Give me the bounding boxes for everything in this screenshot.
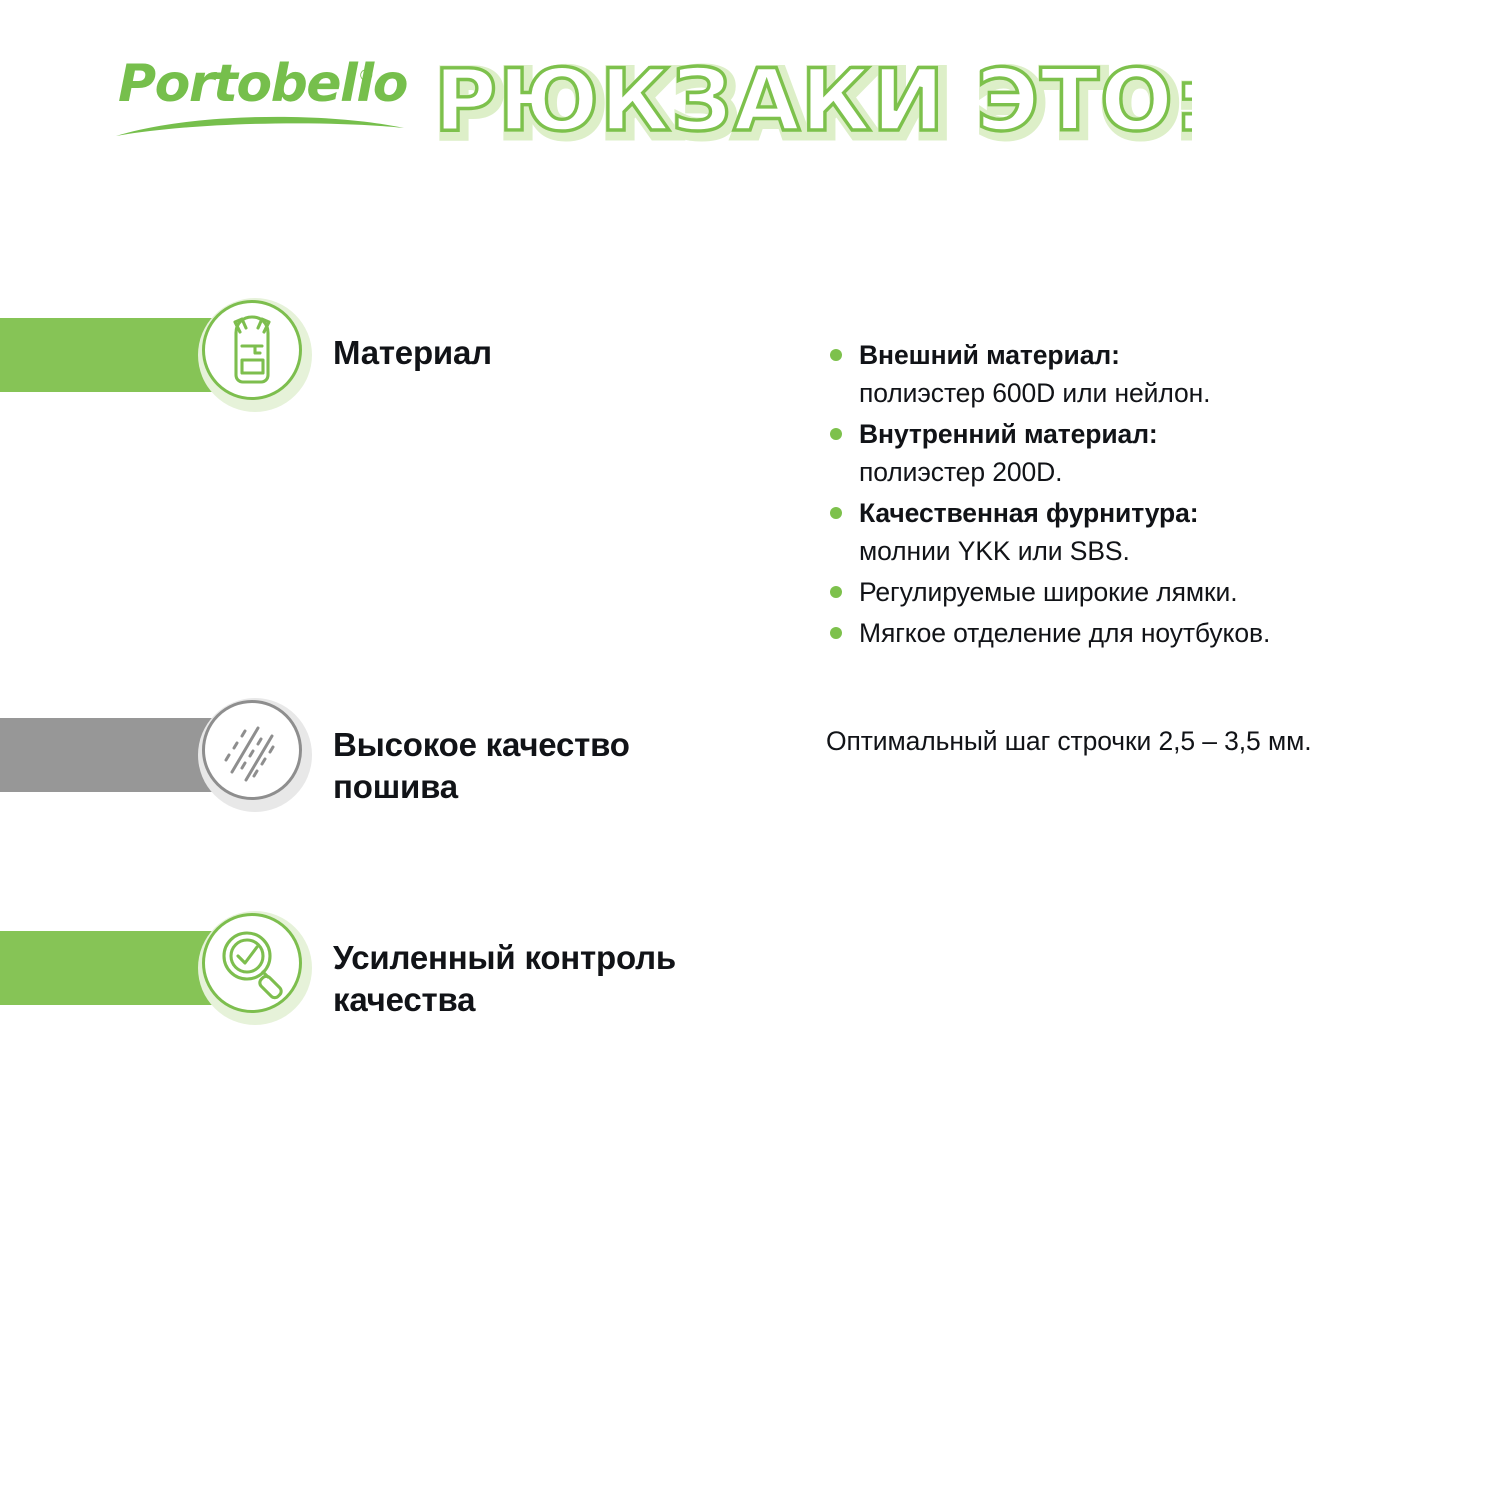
registered-mark-icon: ® xyxy=(360,66,373,86)
brand-logo: Portobello ® xyxy=(118,58,418,148)
list-item: Мягкое отделение для ноутбуков. xyxy=(826,614,1446,652)
bullet-dot-icon xyxy=(830,428,842,440)
list-item: Регулируемые широкие лямки. xyxy=(826,573,1446,611)
bullet-heading: Внутренний материал: xyxy=(859,415,1446,453)
bullet-heading: Качественная фурнитура: xyxy=(859,494,1446,532)
bullet-detail: Регулируемые широкие лямки. xyxy=(859,573,1446,611)
infographic-page: Portobello ® РЮКЗАКИ ЭТО: РЮКЗАКИ ЭТО: xyxy=(0,0,1500,1500)
page-title-outline: РЮКЗАКИ ЭТО: xyxy=(434,51,1192,151)
badge-sewing xyxy=(198,698,312,812)
bullet-dot-icon xyxy=(830,349,842,361)
bullet-dot-icon xyxy=(830,586,842,598)
bullet-dot-icon xyxy=(830,627,842,639)
section-title-material: Материал xyxy=(333,332,492,374)
badge-material xyxy=(198,298,312,412)
list-item: Внешний материал: полиэстер 600D или ней… xyxy=(826,336,1446,412)
section-title-control: Усиленный контроль качества xyxy=(333,937,676,1021)
stitching-note: Оптимальный шаг строчки 2,5 – 3,5 мм. xyxy=(826,722,1466,760)
page-title: РЮКЗАКИ ЭТО: РЮКЗАКИ ЭТО: xyxy=(432,48,1192,158)
page-title-glyphs: РЮКЗАКИ ЭТО: РЮКЗАКИ ЭТО: xyxy=(432,48,1192,158)
bullet-detail: молнии YKK или SBS. xyxy=(859,532,1446,570)
magnifier-check-icon xyxy=(202,913,302,1013)
backpack-icon xyxy=(202,300,302,400)
stitching-icon xyxy=(202,700,302,800)
bullet-dot-icon xyxy=(830,507,842,519)
material-bullet-list: Внешний материал: полиэстер 600D или ней… xyxy=(826,336,1446,655)
brand-swoosh-icon xyxy=(114,114,406,140)
bullet-detail: Мягкое отделение для ноутбуков. xyxy=(859,614,1446,652)
list-item: Внутренний материал: полиэстер 200D. xyxy=(826,415,1446,491)
badge-control xyxy=(198,911,312,1025)
list-item: Качественная фурнитура: молнии YKK или S… xyxy=(826,494,1446,570)
section-title-sewing: Высокое качество пошива xyxy=(333,724,630,808)
bullet-detail: полиэстер 600D или нейлон. xyxy=(859,374,1446,412)
bullet-heading: Внешний материал: xyxy=(859,336,1446,374)
bullet-detail: полиэстер 200D. xyxy=(859,453,1446,491)
